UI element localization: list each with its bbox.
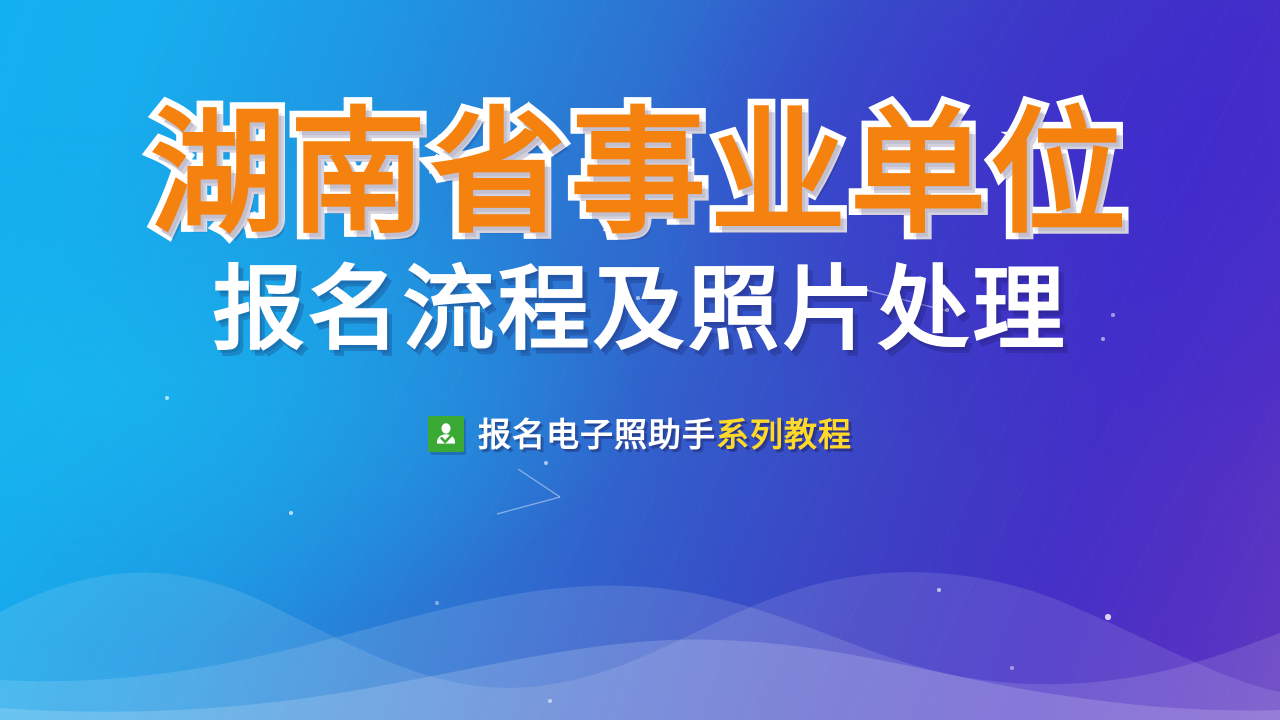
tagline-text: 报名电子照助手系列教程 <box>478 418 852 451</box>
page-subtitle: 报名流程及照片处理 <box>212 263 1067 359</box>
person-check-icon <box>428 416 464 452</box>
tagline: 报名电子照助手系列教程 <box>428 416 852 452</box>
tagline-text-accent: 系列教程 <box>716 416 852 453</box>
poster-canvas: 湖南省事业单位 报名流程及照片处理 报名电子照助手系列教程 <box>0 0 1280 720</box>
poster-content: 湖南省事业单位 报名流程及照片处理 报名电子照助手系列教程 <box>0 0 1280 720</box>
tagline-text-primary: 报名电子照助手 <box>478 416 716 453</box>
page-title: 湖南省事业单位 <box>150 104 1130 243</box>
